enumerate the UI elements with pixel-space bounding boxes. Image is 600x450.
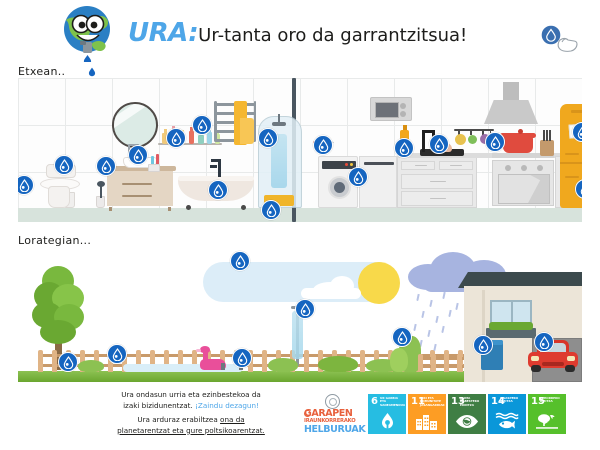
water-drop-badge-with-pointing-hand-icon — [536, 22, 586, 56]
bathroom-mirror — [112, 102, 158, 148]
footer-line1-a: Ura ondasun urria eta ezinbestekoa da — [121, 390, 261, 399]
extractor-hood — [484, 82, 538, 124]
sdg-logo: GARAPEN IRAUNKORRERAKO HELBURUAK — [304, 394, 362, 434]
footer-line1-highlight: ¡Zaindu dezagun! — [195, 401, 259, 410]
tree-hotspot[interactable] — [58, 352, 78, 372]
footer-line2-underline-a: ona da — [220, 415, 245, 424]
bathtub-faucet — [218, 159, 221, 177]
sdg-goal-6-title: UR GARBIA ETA SANEAMENDUA — [380, 397, 404, 407]
window-plants — [489, 322, 533, 330]
section-label-garden: Lorategian... — [18, 234, 91, 247]
hanging-towel-2 — [240, 118, 254, 144]
garden-hose-hotspot[interactable] — [107, 344, 127, 364]
bathtub-hotspot[interactable] — [208, 180, 228, 200]
toiletry-bottle — [198, 135, 204, 144]
brand-name: URA: — [128, 18, 198, 48]
toiletry-bottle — [189, 131, 194, 144]
city-buildings-goal-icon — [408, 411, 446, 431]
sdg-goal-13-title: KLIMA BABESTEKO EKINTZA — [460, 397, 484, 407]
footer-line-1: Ura ondasun urria eta ezinbestekoa da iz… — [80, 390, 302, 411]
sdg-goal-tiles: 6 UR GARBIA ETA SANEAMENDUA 11 HIRI ETA … — [368, 394, 566, 434]
pool-flamingo-hotspot[interactable] — [232, 348, 252, 368]
page-title: URA:Ur-tanta oro da garrantzitsua! — [128, 18, 467, 48]
water-drop-goal-icon — [368, 411, 406, 431]
oven — [492, 160, 554, 206]
drawer-handle — [430, 198, 446, 200]
towel-radiator-hotspot[interactable] — [192, 115, 212, 135]
poster-canvas: URA:Ur-tanta oro da garrantzitsua! Etxea… — [0, 0, 600, 450]
sdg-goal-11[interactable]: 11 HIRI ETA KOMUNITATE JASANGARRIAK — [408, 394, 446, 434]
washing-machine-hotspot[interactable] — [348, 167, 368, 187]
outdoor-shower-hotspot[interactable] — [295, 299, 315, 319]
cooking-pot-hotspot[interactable] — [485, 132, 505, 152]
tagline: Ur-tanta oro da garrantzitsua! — [198, 25, 467, 46]
sdg-goal-14[interactable]: 14 ITSASPEKO BIZITZA — [488, 394, 526, 434]
shower-mat-hotspot[interactable] — [261, 200, 281, 220]
sdg-goal-15[interactable]: 15 LEHORREKO BIZITZA — [528, 394, 566, 434]
home-floor — [18, 208, 582, 222]
utensil-rack — [454, 129, 494, 131]
home-scene — [18, 78, 582, 222]
united-nations-emblem-icon — [325, 394, 340, 409]
shower-hotspot[interactable] — [258, 128, 278, 148]
toothbrush-hotspot[interactable] — [128, 145, 148, 165]
kitchen-knife-hotspot[interactable] — [313, 135, 333, 155]
climate-eye-goal-icon — [448, 411, 486, 431]
vanity-cabinet — [104, 166, 176, 208]
kitchen-faucet — [422, 130, 425, 152]
footer-line2-underline-b: planetarentzat eta gure poltsikoarentzat… — [117, 426, 265, 435]
drawer-handle — [415, 165, 427, 167]
garden-bush — [78, 360, 104, 372]
sdg-goal-14-title: ITSASPEKO BIZITZA — [500, 397, 524, 404]
smiling-earth-with-tap-icon — [58, 4, 120, 62]
garden-bush — [268, 358, 298, 372]
cloud-puff — [301, 288, 361, 299]
sun-weather-hotspot[interactable] — [230, 251, 250, 271]
juice-bottle-hotspot[interactable] — [394, 138, 414, 158]
footer-message: Ura ondasun urria eta ezinbestekoa da iz… — [80, 390, 302, 436]
sdg-goal-6[interactable]: 6 UR GARBIA ETA SANEAMENDUA — [368, 394, 406, 434]
sdg-block: GARAPEN IRAUNKORRERAKO HELBURUAK 6 UR GA… — [304, 393, 566, 435]
header: URA:Ur-tanta oro da garrantzitsua! — [0, 0, 600, 62]
footer-line-2: Ura arduraz erabiltzea ona da planetaren… — [80, 415, 302, 436]
garden-bush — [318, 356, 358, 372]
footer-line2-a: Ura arduraz erabiltzea — [137, 415, 220, 424]
tall-hedge — [390, 348, 408, 372]
garden-scene — [18, 248, 582, 382]
lawn-sprinkler — [218, 360, 228, 370]
footer: Ura ondasun urria eta ezinbestekoa da iz… — [0, 390, 600, 450]
washbasin-hotspot[interactable] — [96, 156, 116, 176]
sdg-goal-11-title: HIRI ETA KOMUNITATE JASANGARRIAK — [420, 397, 444, 407]
sdg-goal-6-number: 6 — [371, 397, 378, 407]
car-wash-hotspot[interactable] — [534, 332, 554, 352]
microwave — [370, 97, 412, 121]
toiletry-bottle — [207, 132, 212, 144]
section-label-home: Etxean.. — [18, 65, 65, 78]
fish-waves-goal-icon — [488, 411, 526, 431]
hanging-pan — [468, 135, 477, 144]
tree-bird-goal-icon — [528, 411, 566, 431]
hanging-pan — [455, 134, 466, 145]
cooking-pot — [503, 137, 533, 153]
toothbrush-cup — [148, 164, 160, 172]
hedge-bush-hotspot[interactable] — [392, 327, 412, 347]
sdg-goal-15-title: LEHORREKO BIZITZA — [540, 397, 564, 404]
toilet-hotspot[interactable] — [54, 155, 74, 175]
rain-barrel-hotspot[interactable] — [473, 335, 493, 355]
footer-line1-b: izaki bizidunentzat. — [123, 401, 195, 410]
small-fence — [418, 352, 464, 372]
sun — [358, 262, 400, 304]
sdg-goal-13[interactable]: 13 KLIMA BABESTEKO EKINTZA — [448, 394, 486, 434]
drawer-handle — [430, 181, 446, 183]
knife-block — [540, 140, 554, 156]
drawer-handle — [450, 165, 462, 167]
toiletries-shelf-hotspot[interactable] — [166, 128, 186, 148]
sdg-title-line3: HELBURUAK — [304, 425, 362, 435]
kitchen-sink-hotspot[interactable] — [429, 134, 449, 154]
